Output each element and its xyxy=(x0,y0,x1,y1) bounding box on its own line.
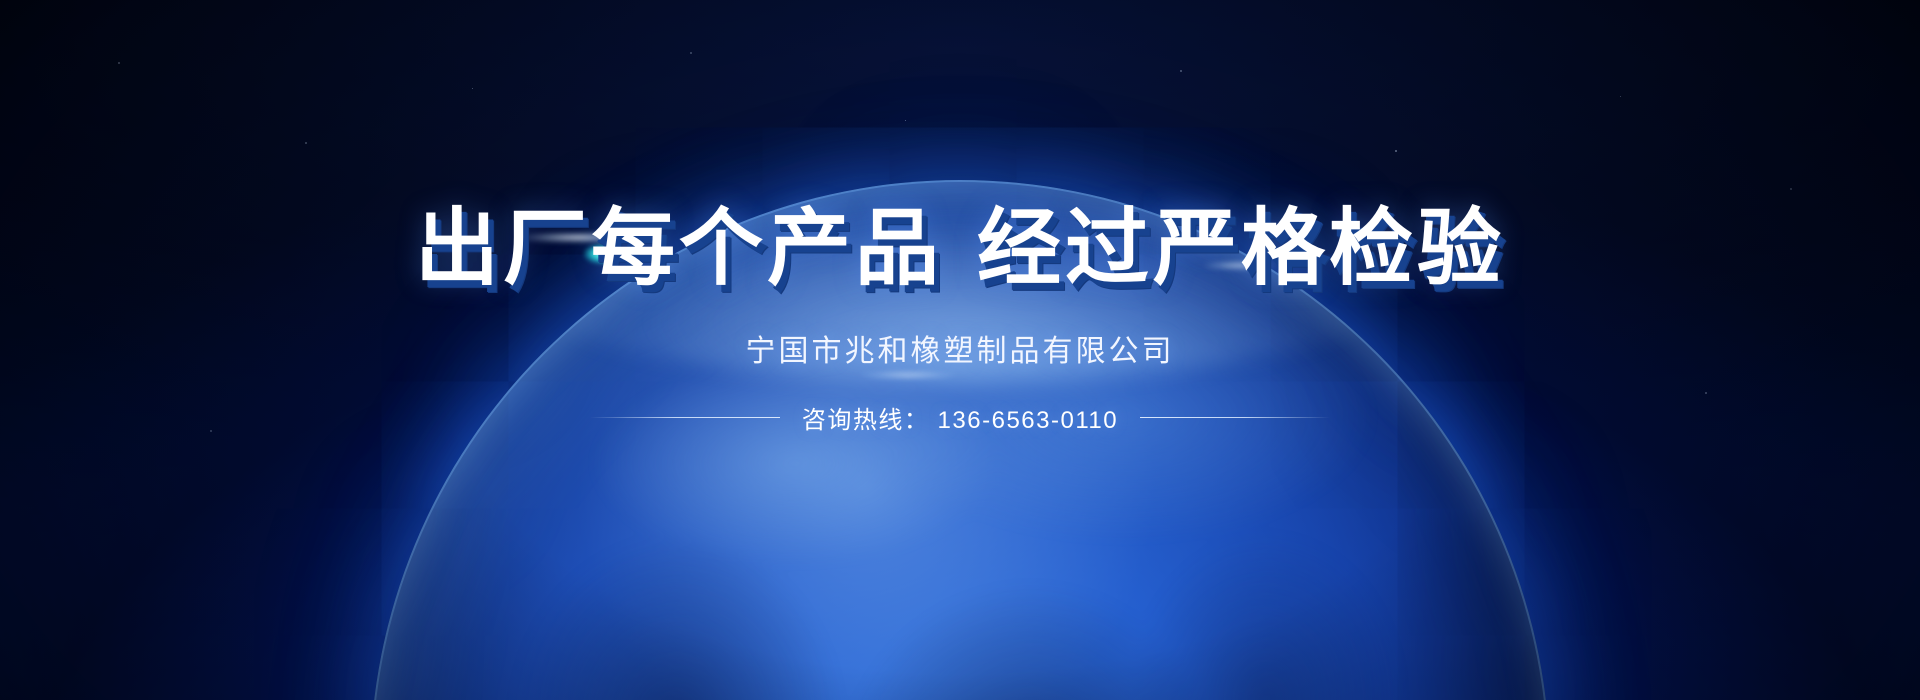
banner-headline: 出厂每个产品经过严格检验 xyxy=(415,206,1505,290)
hotline-rule-left xyxy=(590,417,780,418)
headline-part-2: 经过严格检验 xyxy=(977,201,1505,295)
headline-part-1: 出厂每个产品 xyxy=(415,201,943,295)
company-name: 宁国市兆和橡塑制品有限公司 xyxy=(746,326,1175,370)
hotline-row: 咨询热线： 136-6563-0110 xyxy=(590,400,1330,435)
banner-content: 出厂每个产品经过严格检验 宁国市兆和橡塑制品有限公司 咨询热线： 136-656… xyxy=(0,0,1920,700)
hero-banner: 出厂每个产品经过严格检验 宁国市兆和橡塑制品有限公司 咨询热线： 136-656… xyxy=(0,0,1920,700)
hotline-rule-right xyxy=(1140,417,1330,418)
hotline-text: 咨询热线： 136-6563-0110 xyxy=(802,400,1118,435)
